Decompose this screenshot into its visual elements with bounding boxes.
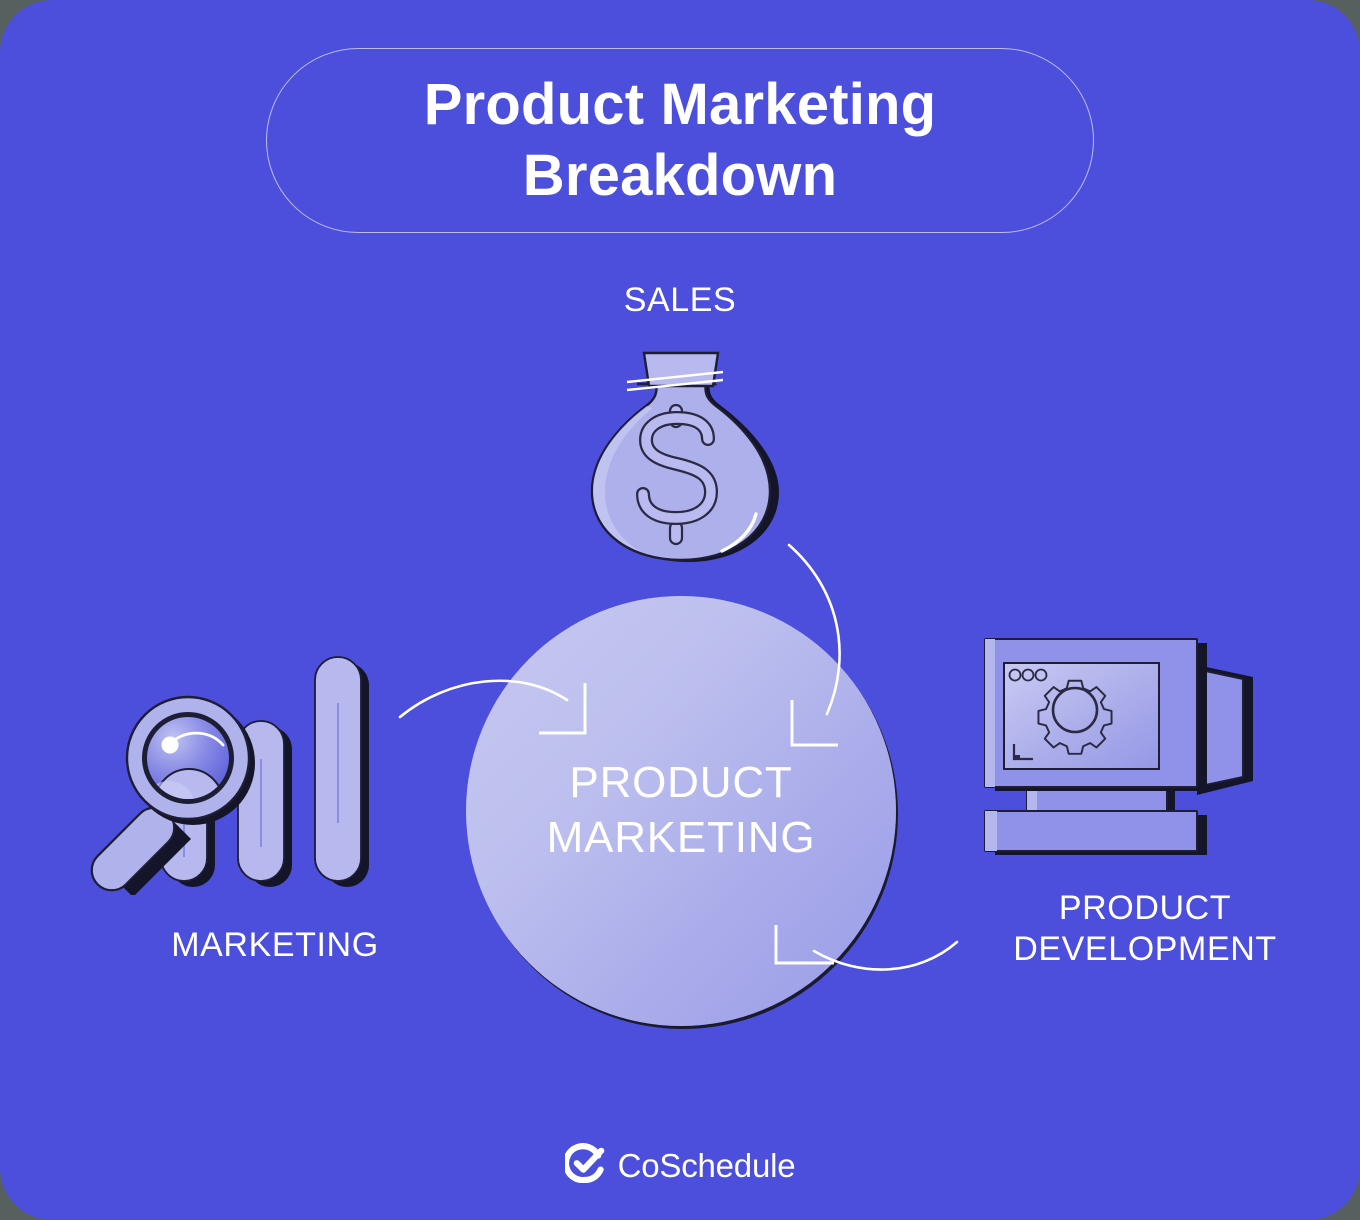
arrow-layer	[0, 0, 1360, 1220]
infographic-canvas: Product Marketing Breakdown SALES MARKET…	[0, 0, 1360, 1220]
brand-name: CoSchedule	[618, 1147, 796, 1185]
arrow-marketing-to-center	[400, 681, 585, 733]
arrow-productdev-to-center	[776, 915, 957, 970]
footer-logo: CoSchedule	[0, 1143, 1360, 1188]
coschedule-check-circle-icon	[565, 1143, 605, 1188]
arrow-sales-to-center	[789, 545, 840, 745]
